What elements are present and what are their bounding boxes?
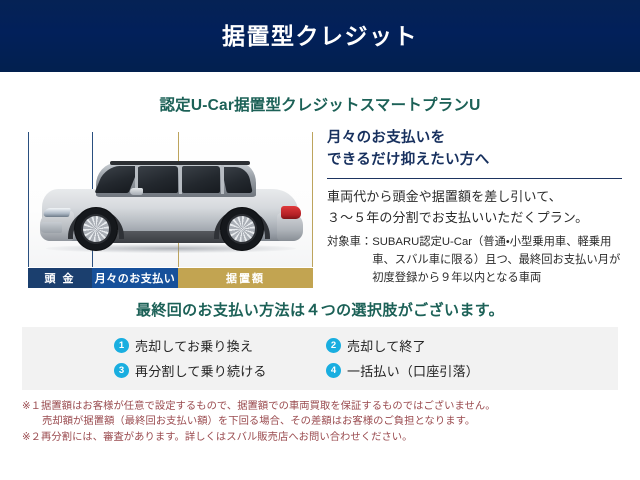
footnote-1-line1: 据置額はお客様が任意で設定するもので、据置額での車両買取を保証するものではござい… [41,399,640,414]
description-divider [327,178,622,179]
options-grid: 1 売却してお乗り換え 2 売却して終了 3 再分割して乗り続ける 4 一括払い… [22,336,618,380]
legend-label-downpayment: 頭 金 [44,270,75,286]
final-payment-options-panel: 1 売却してお乗り換え 2 売却して終了 3 再分割して乗り続ける 4 一括払い… [22,327,618,390]
option-item-4[interactable]: 4 一括払い（口座引落） [326,361,618,380]
segment-divider-line [28,132,29,267]
legend-segment-residual: 据置額 [178,268,313,288]
footnotes: ※１ 据置額はお客様が任意で設定するもので、据置額での車両買取を保証するものでは… [22,399,640,445]
segment-divider-line [312,132,313,267]
description-body: 車両代から頭金や据置額を差し引いて、 ３～５年の分割でお支払いいただくプラン。 [327,186,622,228]
legend-label-residual: 据置額 [226,270,265,286]
car-front-window [138,166,178,193]
option-label-3: 再分割して乗り続ける [135,361,267,380]
eligible-vehicles: 対象車： SUBARU認定U-Car（普通・小型乗用車、軽乗用車、スバル車に限る… [327,234,622,288]
footnote-1-line2: 売却額が据置額（最終回お支払い額）を下回る場合、その差額はお客様のご負担となりま… [42,416,475,427]
option-number-badge-icon: 3 [114,363,129,378]
option-number-badge-icon: 4 [326,363,341,378]
option-item-1[interactable]: 1 売却してお乗り換え [114,336,326,355]
footnote-2-line1: 再分割には、審査があります。詳しくはスバル販売店へお問い合わせください。 [41,430,640,445]
car-rear-wheel [220,207,264,251]
footnote-1: ※１ 据置額はお客様が任意で設定するもので、据置額での車両買取を保証するものでは… [22,399,640,414]
option-item-2[interactable]: 2 売却して終了 [326,336,618,355]
eligible-vehicles-text: SUBARU認定U-Car（普通・小型乗用車、軽乗用車、スバル車に限る）且つ、最… [372,234,622,288]
subtitle-container: 認定U-Car据置型クレジットスマートプランU [0,93,640,115]
legend-label-monthly: 月々のお支払い [95,270,176,286]
payment-segment-legend: 頭 金 月々のお支払い 据置額 [28,268,313,288]
eligible-vehicles-label: 対象車： [327,234,372,288]
footnote-1-continuation: 売却額が据置額（最終回お支払い額）を下回る場合、その差額はお客様のご負担となりま… [22,414,640,429]
option-label-1: 売却してお乗り換え [135,336,253,355]
footnote-2: ※２ 再分割には、審査があります。詳しくはスバル販売店へお問い合わせください。 [22,430,640,445]
header-banner: 据置型クレジット [0,0,640,72]
page-title: 据置型クレジット [222,25,418,48]
car-rear-window [182,166,220,193]
plan-subtitle: 認定U-Car据置型クレジットスマートプランU [159,97,480,114]
description-heading: 月々のお支払いを できるだけ抑えたい方へ [327,127,622,172]
description-body-line2: ３～５年の分割でお支払いいただくプラン。 [327,207,622,228]
car-photo [28,125,313,267]
subaru-forester-illustration [38,143,303,253]
payment-breakdown-figure: 頭 金 月々のお支払い 据置額 [28,125,313,288]
car-d-pillar [221,165,224,194]
option-number-badge-icon: 1 [114,338,129,353]
description-column: 月々のお支払いを できるだけ抑えたい方へ 車両代から頭金や据置額を差し引いて、 … [313,125,622,288]
legend-segment-monthly: 月々のお支払い [92,268,178,288]
description-body-line1: 車両代から頭金や据置額を差し引いて、 [327,186,622,207]
description-heading-line1: 月々のお支払いを [327,127,622,149]
option-label-2: 売却して終了 [347,336,426,355]
footnote-2-mark: ※２ [22,430,41,445]
legend-segment-downpayment: 頭 金 [28,268,92,288]
car-side-mirror [130,188,143,195]
car-headlight [43,208,71,217]
car-grille [40,222,62,233]
car-front-wheel [74,207,118,251]
car-taillight [281,206,301,219]
final-payment-headline: 最終回のお支払い方法は４つの選択肢がございます。 [0,299,640,320]
option-label-4: 一括払い（口座引落） [347,361,479,380]
option-number-badge-icon: 2 [326,338,341,353]
description-heading-line2: できるだけ抑えたい方へ [327,149,622,171]
mid-section: 頭 金 月々のお支払い 据置額 月々のお支払いを できるだけ抑えたい方へ 車両代… [0,125,640,288]
car-c-pillar [179,165,182,194]
option-item-3[interactable]: 3 再分割して乗り続ける [114,361,326,380]
footnote-1-mark: ※１ [22,399,41,414]
